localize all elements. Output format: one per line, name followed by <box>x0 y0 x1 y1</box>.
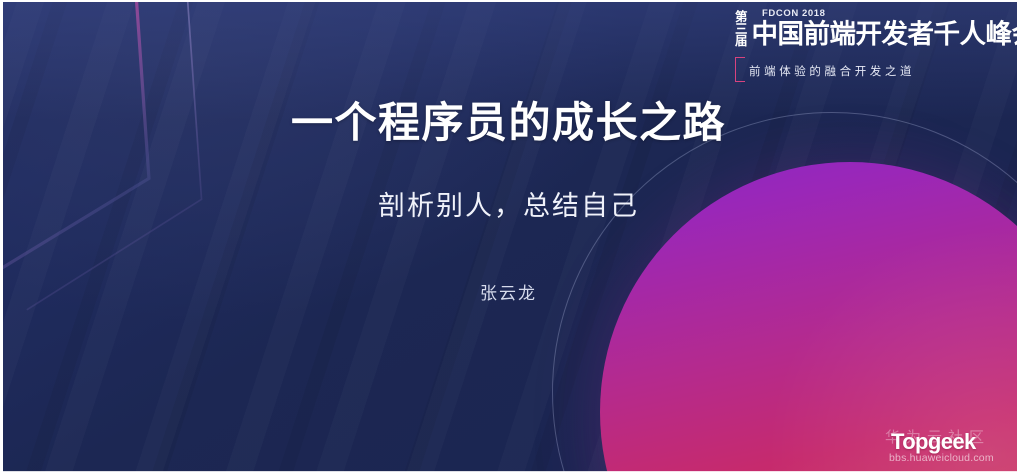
event-name: 中国前端开发者千人峰会 <box>752 22 1017 49</box>
watermark: 华为云社区 Topgeek bbs.huaweicloud.com <box>883 424 1011 470</box>
presentation-slide: 第 三 届 中国前端开发者千人峰会 FDCON 2018 前端体验的融合开发之道… <box>0 0 1017 472</box>
frame-edge-left <box>0 0 3 472</box>
tagline-bracket-icon <box>735 57 745 82</box>
event-logo: 第 三 届 中国前端开发者千人峰会 FDCON 2018 前端体验的融合开发之道 <box>735 6 997 82</box>
event-ordinal-char-3: 届 <box>735 35 748 47</box>
event-ordinal-stack: 第 三 届 <box>735 11 748 48</box>
event-tagline: 前端体验的融合开发之道 <box>749 64 915 78</box>
frame-edge-top <box>0 0 1017 2</box>
event-acronym: FDCON 2018 <box>762 8 826 19</box>
watermark-url: bbs.huaweicloud.com <box>889 452 994 464</box>
event-tagline-container: 前端体验的融合开发之道 <box>735 57 915 82</box>
